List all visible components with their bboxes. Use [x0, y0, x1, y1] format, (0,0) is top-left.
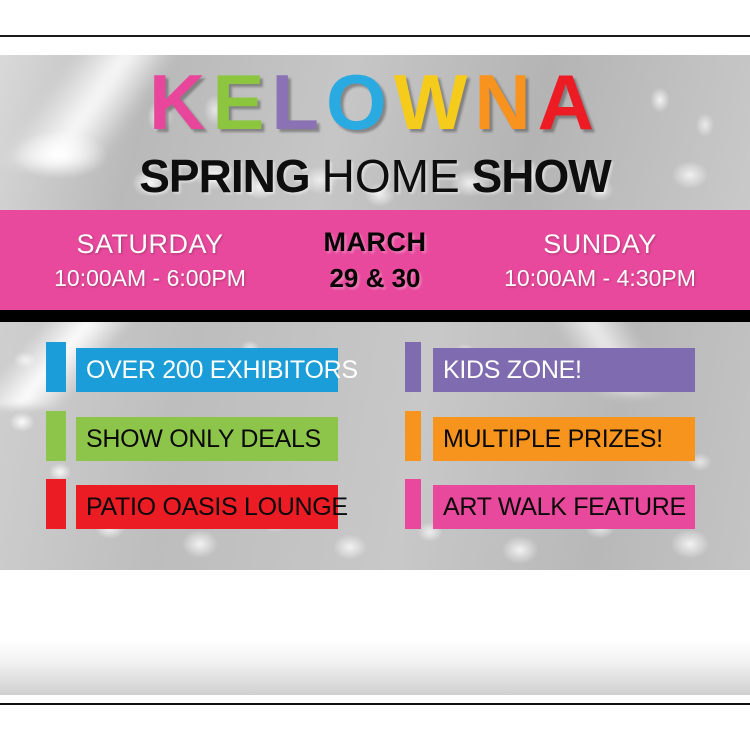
sunday-block: SUNDAY 10:00AM - 4:30PM: [465, 229, 735, 291]
wordmark-letter-n: N: [474, 58, 537, 146]
saturday-day-label: SATURDAY: [15, 229, 285, 260]
wordmark-letter-k: K: [149, 58, 212, 146]
subtitle-spring: SPRING: [139, 150, 309, 202]
wordmark-letter-e: E: [212, 58, 271, 146]
feature-accent-tab-kids-zone: [405, 342, 421, 392]
kelowna-wordmark: KELOWNA: [0, 63, 750, 141]
wordmark-letter-a: A: [538, 58, 601, 146]
feature-row-exhibitors[interactable]: OVER 200 EXHIBITORS: [46, 348, 338, 392]
feature-bar-art-walk[interactable]: ART WALK FEATURE: [433, 485, 695, 529]
feature-row-patio[interactable]: PATIO OASIS LOUNGE: [46, 485, 338, 529]
subtitle-home: HOME: [322, 150, 460, 202]
saturday-block: SATURDAY 10:00AM - 6:00PM: [15, 229, 285, 291]
poster-artwork: KELOWNA SPRINGHOMESHOW SATURDAY 10:00AM …: [0, 55, 750, 695]
feature-label-exhibitors: OVER 200 EXHIBITORS: [86, 356, 358, 385]
feature-bar-prizes[interactable]: MULTIPLE PRIZES!: [433, 417, 695, 461]
feature-label-prizes: MULTIPLE PRIZES!: [443, 425, 663, 454]
month-block: MARCH 29 & 30: [285, 227, 465, 294]
feature-bar-kids-zone[interactable]: KIDS ZONE!: [433, 348, 695, 392]
feature-row-prizes[interactable]: MULTIPLE PRIZES!: [405, 417, 697, 461]
feature-accent-tab-deals: [46, 411, 66, 461]
feature-row-deals[interactable]: SHOW ONLY DEALS: [46, 417, 338, 461]
month-label: MARCH: [285, 227, 465, 258]
date-band: SATURDAY 10:00AM - 6:00PM MARCH 29 & 30 …: [0, 210, 750, 310]
black-divider-bar: [0, 310, 750, 322]
subtitle-show: SHOW: [472, 150, 611, 202]
feature-accent-tab-patio: [46, 479, 66, 529]
feature-label-art-walk: ART WALK FEATURE: [443, 493, 686, 522]
saturday-hours: 10:00AM - 6:00PM: [15, 265, 285, 291]
wordmark-letter-l: L: [271, 58, 326, 146]
feature-row-kids-zone[interactable]: KIDS ZONE!: [405, 348, 697, 392]
feature-label-patio: PATIO OASIS LOUNGE: [86, 493, 348, 522]
feature-bar-deals[interactable]: SHOW ONLY DEALS: [76, 417, 338, 461]
feature-accent-tab-exhibitors: [46, 342, 66, 392]
sunday-day-label: SUNDAY: [465, 229, 735, 260]
sunday-hours: 10:00AM - 4:30PM: [465, 265, 735, 291]
top-divider-rule: [0, 35, 750, 37]
home-show-poster: KELOWNA SPRINGHOMESHOW SATURDAY 10:00AM …: [0, 0, 750, 750]
feature-accent-tab-art-walk: [405, 479, 421, 529]
feature-bar-patio[interactable]: PATIO OASIS LOUNGE: [76, 485, 338, 529]
feature-label-deals: SHOW ONLY DEALS: [86, 425, 321, 454]
wordmark-letter-o: O: [326, 58, 394, 146]
day-numbers-label: 29 & 30: [285, 264, 465, 294]
bottom-divider-rule: [0, 703, 750, 705]
feature-label-kids-zone: KIDS ZONE!: [443, 356, 582, 385]
feature-bar-exhibitors[interactable]: OVER 200 EXHIBITORS: [76, 348, 338, 392]
event-subtitle: SPRINGHOMESHOW: [0, 153, 750, 199]
footer-grey-fade: [0, 640, 750, 695]
feature-row-art-walk[interactable]: ART WALK FEATURE: [405, 485, 697, 529]
feature-accent-tab-prizes: [405, 411, 421, 461]
wordmark-letter-w: W: [394, 58, 475, 146]
features-photo-background: OVER 200 EXHIBITORS SHOW ONLY DEALS PATI…: [0, 322, 750, 570]
